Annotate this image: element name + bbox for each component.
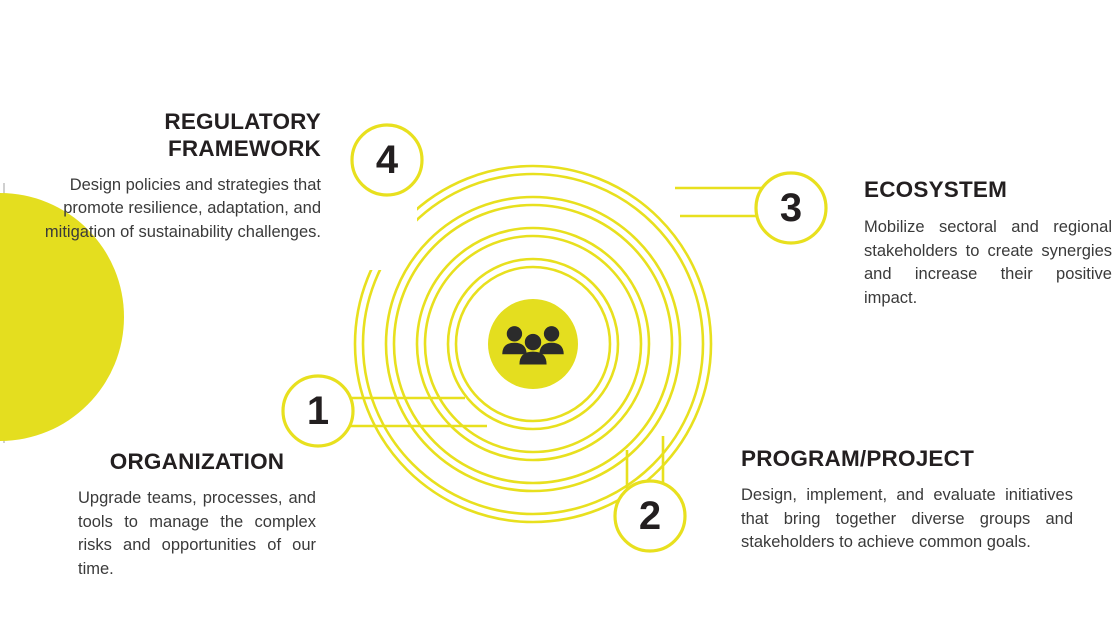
block-program-project[interactable]: PROGRAM/PROJECT Design, implement, and e… [741,445,1073,555]
organization-title: ORGANIZATION [78,448,316,475]
badge-4-number: 4 [376,138,399,182]
badge-4[interactable]: 4 [352,125,422,195]
ecosystem-title: ECOSYSTEM [864,176,1112,203]
badge-3-number: 3 [780,186,802,230]
regulatory-framework-title: REGULATORY FRAMEWORK [26,108,321,163]
organization-body: Upgrade teams, processes, and tools to m… [78,487,316,581]
program-project-body: Design, implement, and evaluate initiati… [741,484,1073,554]
block-organization[interactable]: ORGANIZATION Upgrade teams, processes, a… [78,448,316,581]
block-regulatory-framework[interactable]: REGULATORY FRAMEWORK Design policies and… [26,108,321,244]
program-project-title: PROGRAM/PROJECT [741,445,1073,472]
regulatory-framework-body: Design policies and strategies that prom… [26,174,321,244]
diagram-canvas: 4 3 1 2 REGULATORY FRAMEWORK Design poli… [0,0,1119,633]
badge-3[interactable]: 3 [756,173,826,243]
ecosystem-body: Mobilize sectoral and regional stakehold… [864,216,1112,310]
badge-2[interactable]: 2 [615,481,685,551]
badge-1[interactable]: 1 [283,376,353,446]
center-hub [488,299,578,389]
block-ecosystem[interactable]: ECOSYSTEM Mobilize sectoral and regional… [864,176,1112,310]
badge-1-number: 1 [307,389,329,433]
badge-2-number: 2 [639,494,661,538]
